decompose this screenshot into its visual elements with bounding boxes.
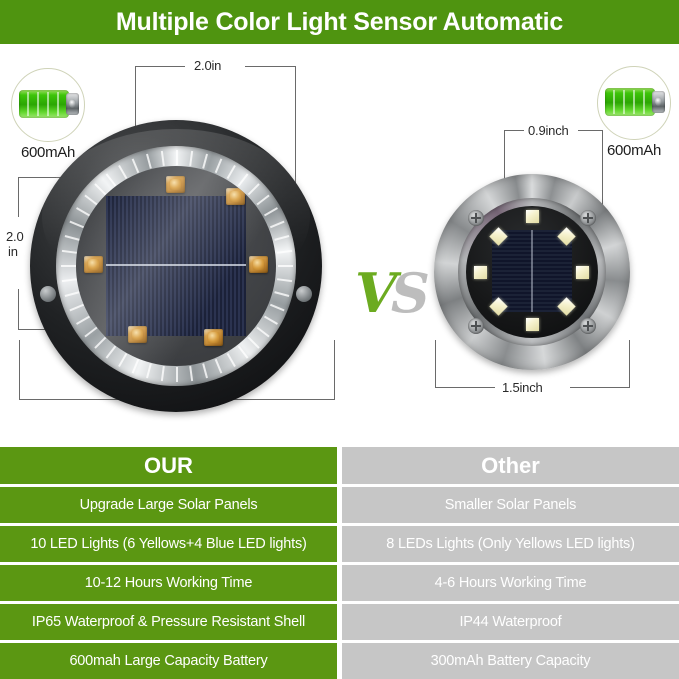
- product-face: [76, 166, 276, 366]
- battery-segment: [37, 92, 39, 116]
- led-chip: [226, 188, 245, 205]
- dim-left-vert-upper: [18, 177, 19, 217]
- screw-icon: [468, 210, 484, 226]
- cell-other-feature: 300mAh Battery Capacity: [342, 643, 679, 679]
- dim-top-right-segment: [245, 66, 295, 67]
- panel-height-label-line1: 2.0: [4, 229, 25, 244]
- led-chip: [526, 210, 539, 223]
- cell-other-feature: IP44 Waterproof: [342, 604, 679, 640]
- column-header-other: Other: [342, 447, 679, 484]
- column-header-our: OUR: [0, 447, 337, 484]
- led-chip: [166, 176, 185, 193]
- screw-icon: [580, 210, 596, 226]
- battery-segment: [613, 90, 615, 114]
- dim-bottom-vert-right: [334, 340, 335, 400]
- versus-mark: VS: [355, 262, 433, 324]
- battery-segment: [27, 92, 29, 116]
- led-chip: [204, 329, 223, 346]
- dim-top-left-segment: [135, 66, 185, 67]
- versus-s-letter: S: [391, 261, 424, 325]
- page-title: Multiple Color Light Sensor Automatic: [116, 8, 563, 37]
- cell-our-feature: 10-12 Hours Working Time: [0, 565, 337, 601]
- product-face: [466, 206, 598, 338]
- led-chip: [576, 266, 589, 279]
- table-row: 10 LED Lights (6 Yellows+4 Blue LED ligh…: [0, 526, 679, 562]
- comparison-table: OUR Other Upgrade Large Solar Panels Sma…: [0, 447, 679, 679]
- product-showcase: 600mAh 2.0in 2.0 in 4.5in: [0, 44, 679, 447]
- mounting-tab-left-icon: [40, 286, 56, 302]
- screw-icon: [468, 318, 484, 334]
- table-header-row: OUR Other: [0, 447, 679, 484]
- led-chip: [526, 318, 539, 331]
- screw-icon: [580, 318, 596, 334]
- cell-other-feature: 4-6 Hours Working Time: [342, 565, 679, 601]
- table-row: Upgrade Large Solar Panels Smaller Solar…: [0, 487, 679, 523]
- led-chip: [474, 266, 487, 279]
- panel-width-label: 2.0in: [190, 58, 225, 73]
- led-chip: [84, 256, 103, 273]
- battery-body: [605, 88, 655, 116]
- dim-left-vert-lower: [18, 289, 19, 329]
- panel-height-label-line2: in: [6, 244, 20, 259]
- mounting-tab-right-icon: [296, 286, 312, 302]
- cell-our-feature: 10 LED Lights (6 Yellows+4 Blue LED ligh…: [0, 526, 337, 562]
- battery-body: [19, 90, 69, 118]
- led-chip: [249, 256, 268, 273]
- table-row: IP65 Waterproof & Pressure Resistant She…: [0, 604, 679, 640]
- cell-other-feature: 8 LEDs Lights (Only Yellows LED lights): [342, 526, 679, 562]
- cell-our-feature: Upgrade Large Solar Panels: [0, 487, 337, 523]
- cell-other-feature: Smaller Solar Panels: [342, 487, 679, 523]
- our-product-image: [30, 120, 322, 412]
- cell-our-feature: 600mah Large Capacity Battery: [0, 643, 337, 679]
- dim-r-bottom-right-seg: [570, 387, 630, 388]
- cell-our-feature: IP65 Waterproof & Pressure Resistant She…: [0, 604, 337, 640]
- table-row: 600mah Large Capacity Battery 300mAh Bat…: [0, 643, 679, 679]
- battery-icon: [597, 66, 671, 140]
- battery-segment: [643, 90, 645, 114]
- solar-panel: [492, 230, 572, 312]
- battery-segment: [47, 92, 49, 116]
- header-banner: Multiple Color Light Sensor Automatic: [0, 0, 679, 44]
- versus-v-letter: V: [355, 261, 391, 325]
- table-row: 10-12 Hours Working Time 4-6 Hours Worki…: [0, 565, 679, 601]
- right-battery-capacity-label: 600mAh: [592, 142, 676, 159]
- battery-segment: [633, 90, 635, 114]
- right-battery-badge: 600mAh: [592, 66, 676, 159]
- right-panel-width-label: 0.9inch: [524, 123, 573, 138]
- other-product-image: [434, 174, 630, 370]
- battery-cap-icon: [66, 93, 79, 115]
- dim-r-bottom-left-seg: [435, 387, 495, 388]
- led-chip: [128, 326, 147, 343]
- solar-panel: [106, 196, 246, 336]
- battery-cap-icon: [652, 91, 665, 113]
- battery-segment: [623, 90, 625, 114]
- battery-segment: [57, 92, 59, 116]
- dim-r-top-right-seg: [578, 130, 602, 131]
- right-overall-width-label: 1.5inch: [498, 380, 547, 395]
- dim-bottom-vert-left: [19, 340, 20, 400]
